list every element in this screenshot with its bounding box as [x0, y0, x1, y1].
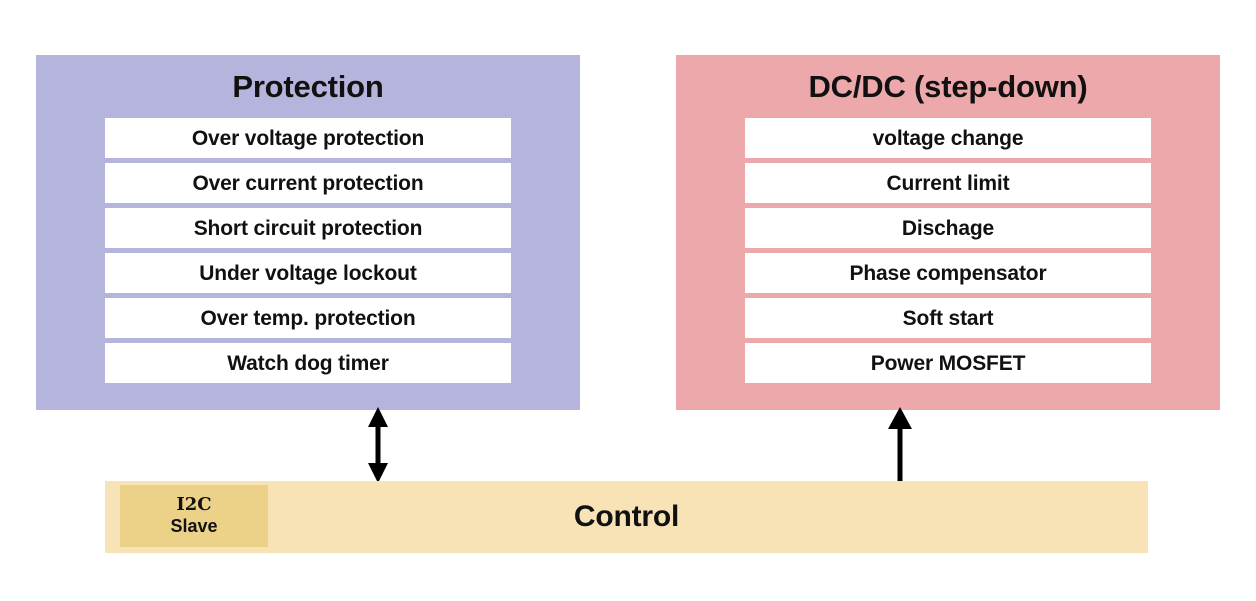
dcdc-item: Phase compensator: [745, 253, 1151, 293]
dcdc-item: Dischage: [745, 208, 1151, 248]
dcdc-block: DC/DC (step-down) voltage change Current…: [676, 55, 1220, 410]
protection-item: Over current protection: [105, 163, 511, 203]
protection-item: Watch dog timer: [105, 343, 511, 383]
control-dcdc-connector-arrow: [877, 405, 923, 485]
i2c-slave-label-line2: Slave: [170, 516, 217, 537]
diagram-canvas: Protection Over voltage protection Over …: [0, 0, 1256, 601]
protection-block: Protection Over voltage protection Over …: [36, 55, 580, 410]
dcdc-item-list: voltage change Current limit Dischage Ph…: [745, 118, 1151, 383]
control-block: Control I2C Slave: [105, 481, 1148, 553]
dcdc-block-title: DC/DC (step-down): [676, 71, 1220, 102]
protection-block-title: Protection: [36, 71, 580, 102]
protection-item: Over temp. protection: [105, 298, 511, 338]
protection-item: Short circuit protection: [105, 208, 511, 248]
i2c-slave-interface-box: I2C Slave: [120, 485, 268, 547]
protection-item: Under voltage lockout: [105, 253, 511, 293]
dcdc-item: voltage change: [745, 118, 1151, 158]
protection-control-connector-arrow: [355, 405, 401, 485]
i2c-slave-label-line1: I2C: [176, 495, 211, 516]
dcdc-item: Current limit: [745, 163, 1151, 203]
protection-item-list: Over voltage protection Over current pro…: [105, 118, 511, 383]
dcdc-item: Power MOSFET: [745, 343, 1151, 383]
dcdc-item: Soft start: [745, 298, 1151, 338]
protection-item: Over voltage protection: [105, 118, 511, 158]
